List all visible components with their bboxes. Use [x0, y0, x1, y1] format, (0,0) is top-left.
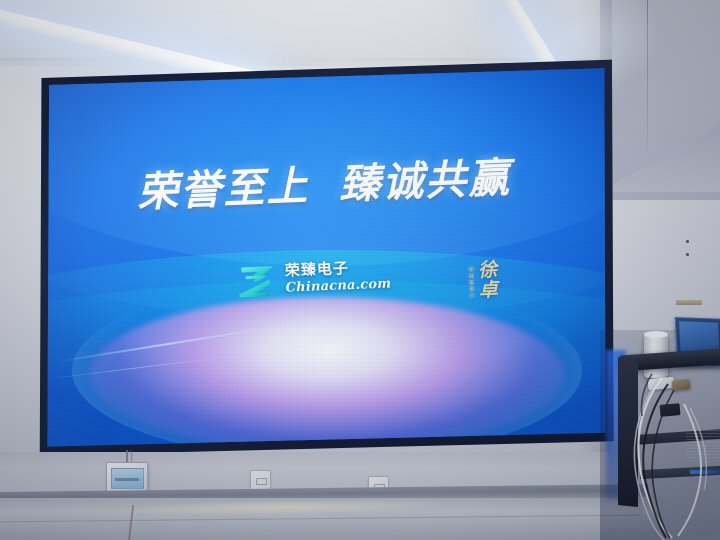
- wall-fixture: [676, 300, 702, 305]
- company-logo: 荣臻电子 Chinacna.com: [237, 257, 392, 299]
- wall-screw-1: [686, 240, 689, 243]
- slide-headline: 荣誉至上臻诚共赢: [44, 140, 608, 223]
- headline-right: 臻诚共赢: [338, 154, 512, 209]
- logo-company-en: Chinacna.com: [285, 278, 391, 295]
- beam-seam-line: [647, 0, 649, 150]
- signature-title: 荣臻董事长: [466, 266, 474, 299]
- signature-name: 徐卓: [475, 259, 496, 300]
- rongzhen-z-mark-icon: [237, 262, 278, 300]
- control-box-screen: [111, 468, 144, 489]
- slide-content: 荣誉至上臻诚共赢 荣臻电子: [44, 64, 610, 452]
- led-video-wall[interactable]: 荣誉至上臻诚共赢 荣臻电子: [44, 64, 610, 452]
- headline-left: 荣誉至上: [136, 162, 310, 217]
- wall-screw-2: [686, 253, 689, 256]
- cable-bundle: [600, 360, 720, 540]
- signature-block: 荣臻董事长 徐卓: [466, 259, 496, 300]
- photo-scene: 荣誉至上臻诚共赢 荣臻电子: [0, 0, 720, 540]
- logo-text-block: 荣臻电子 Chinacna.com: [285, 260, 392, 295]
- headline-gap: [310, 199, 340, 200]
